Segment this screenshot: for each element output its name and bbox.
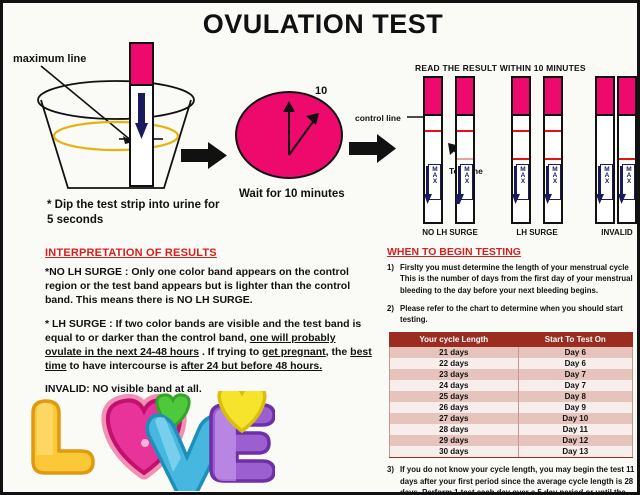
control-line — [425, 130, 441, 132]
group-label-no-lh-surge: NO LH SURGE — [405, 228, 495, 237]
cell-start-test-on: Day 13 — [518, 446, 632, 458]
strip-pad — [619, 78, 635, 116]
test-line — [513, 158, 529, 160]
cycle-table-body: 21 daysDay 622 daysDay 623 daysDay 724 d… — [390, 347, 633, 458]
max-arrow-icon — [456, 166, 464, 204]
cell-cycle-length: 26 days — [390, 402, 519, 413]
table-row: 23 daysDay 7 — [390, 369, 633, 380]
table-row: 30 daysDay 13 — [390, 446, 633, 458]
table-row: 27 daysDay 10 — [390, 413, 633, 424]
step-number: 1) — [387, 262, 400, 296]
when-to-begin-heading: WHEN TO BEGIN TESTING — [387, 246, 637, 258]
cell-start-test-on: Day 12 — [518, 435, 632, 446]
strip-invalid-b: MAX — [617, 76, 637, 224]
step-text: If you do not know your cycle length, yo… — [400, 464, 637, 495]
clock-hands-icon — [231, 83, 351, 183]
table-header-row: Your cycle Length Start To Test On — [390, 333, 633, 347]
interpretation-no-surge: *NO LH SURGE : Only one color band appea… — [45, 265, 375, 308]
test-line-faint — [457, 158, 473, 160]
cell-start-test-on: Day 8 — [518, 391, 632, 402]
max-arrow-icon — [544, 166, 552, 204]
strip-absorbent-pad — [131, 44, 152, 86]
strip-no-surge-a: MAX — [423, 76, 443, 224]
table-row: 22 daysDay 6 — [390, 358, 633, 369]
column-header-start-test: Start To Test On — [518, 333, 632, 347]
poster-canvas: OVULATION TEST maximum line * Dip the te… — [0, 0, 640, 495]
strip-pad — [597, 78, 613, 116]
strip-lh-surge-a: MAX — [511, 76, 531, 224]
cell-cycle-length: 21 days — [390, 347, 519, 359]
cell-cycle-length: 25 days — [390, 391, 519, 402]
table-row: 25 daysDay 8 — [390, 391, 633, 402]
cycle-length-table: Your cycle Length Start To Test On 21 da… — [389, 332, 633, 458]
cell-cycle-length: 27 days — [390, 413, 519, 424]
table-row: 29 daysDay 12 — [390, 435, 633, 446]
lh-surge-text-2: . If trying to — [199, 346, 262, 358]
max-arrow-icon — [596, 166, 604, 204]
dip-caption: * Dip the test strip into urine for 5 se… — [47, 198, 227, 228]
down-arrow-icon — [135, 93, 148, 139]
strip-no-surge-b: MAX — [455, 76, 475, 224]
step-number: 3) — [387, 464, 400, 495]
cup-drawing — [11, 38, 221, 203]
page-title: OVULATION TEST — [3, 9, 640, 40]
control-line — [619, 158, 635, 160]
wait-caption: Wait for 10 minutes — [239, 187, 349, 202]
cell-start-test-on: Day 7 — [518, 369, 632, 380]
table-row: 21 daysDay 6 — [390, 347, 633, 359]
cell-start-test-on: Day 9 — [518, 402, 632, 413]
lh-surge-text-4: to have intercourse is — [67, 360, 181, 372]
group-label-invalid: INVALID — [577, 228, 640, 237]
group-label-lh-surge: LH SURGE — [497, 228, 577, 237]
control-line-label: control line — [355, 113, 401, 123]
control-line — [457, 130, 473, 132]
love-graphic — [25, 391, 275, 491]
strip-pad — [425, 78, 441, 116]
strip-pad — [457, 78, 473, 116]
cell-cycle-length: 23 days — [390, 369, 519, 380]
begin-step-1: 1) Firslty you must determine the length… — [387, 262, 637, 296]
max-arrow-icon — [512, 166, 520, 204]
lh-surge-underline-2: get pregnant — [262, 346, 326, 358]
interpretation-heading: INTERPRETATION OF RESULTS — [45, 247, 375, 259]
strip-invalid-a: MAX — [595, 76, 615, 224]
strip-pad — [545, 78, 561, 116]
read-result-header: READ THE RESULT WITHIN 10 MINUTES — [415, 63, 586, 73]
step-text: Firslty you must determine the length of… — [400, 262, 637, 296]
cell-cycle-length: 29 days — [390, 435, 519, 446]
cell-start-test-on: Day 10 — [518, 413, 632, 424]
max-arrow-icon — [618, 166, 626, 204]
step-text: Please refer to the chart to determine w… — [400, 303, 637, 326]
cell-cycle-length: 22 days — [390, 358, 519, 369]
step-number: 2) — [387, 303, 400, 326]
cell-start-test-on: Day 11 — [518, 424, 632, 435]
control-line — [513, 130, 529, 132]
clock-illustration: 10 Wait for 10 minutes — [231, 83, 351, 218]
max-arrow-icon — [424, 166, 432, 204]
lh-surge-underline-4: after 24 but before 48 hours. — [181, 360, 322, 372]
table-row: 28 daysDay 11 — [390, 424, 633, 435]
column-header-cycle-length: Your cycle Length — [390, 333, 519, 347]
flow-arrow-1-icon — [181, 141, 229, 171]
love-letter-L-icon — [33, 401, 93, 473]
results-illustration: READ THE RESULT WITHIN 10 MINUTES contro… — [355, 63, 639, 233]
table-row: 24 daysDay 7 — [390, 380, 633, 391]
strip-pad — [513, 78, 529, 116]
begin-step-2: 2) Please refer to the chart to determin… — [387, 303, 637, 326]
when-to-begin-section: WHEN TO BEGIN TESTING 1) Firslty you mus… — [387, 246, 637, 495]
control-line — [545, 130, 561, 132]
cell-start-test-on: Day 6 — [518, 358, 632, 369]
cell-cycle-length: 28 days — [390, 424, 519, 435]
cell-cycle-length: 30 days — [390, 446, 519, 458]
interpretation-lh-surge: * LH SURGE : If two color bands are visi… — [45, 317, 375, 374]
interpretation-section: INTERPRETATION OF RESULTS *NO LH SURGE :… — [45, 247, 375, 405]
cell-start-test-on: Day 6 — [518, 347, 632, 359]
table-row: 26 daysDay 9 — [390, 402, 633, 413]
test-line — [545, 158, 561, 160]
begin-step-3: 3) If you do not know your cycle length,… — [387, 464, 637, 495]
cell-start-test-on: Day 7 — [518, 380, 632, 391]
strip-lh-surge-b: MAX — [543, 76, 563, 224]
lh-surge-text-3: , the — [326, 346, 351, 358]
cell-cycle-length: 24 days — [390, 380, 519, 391]
